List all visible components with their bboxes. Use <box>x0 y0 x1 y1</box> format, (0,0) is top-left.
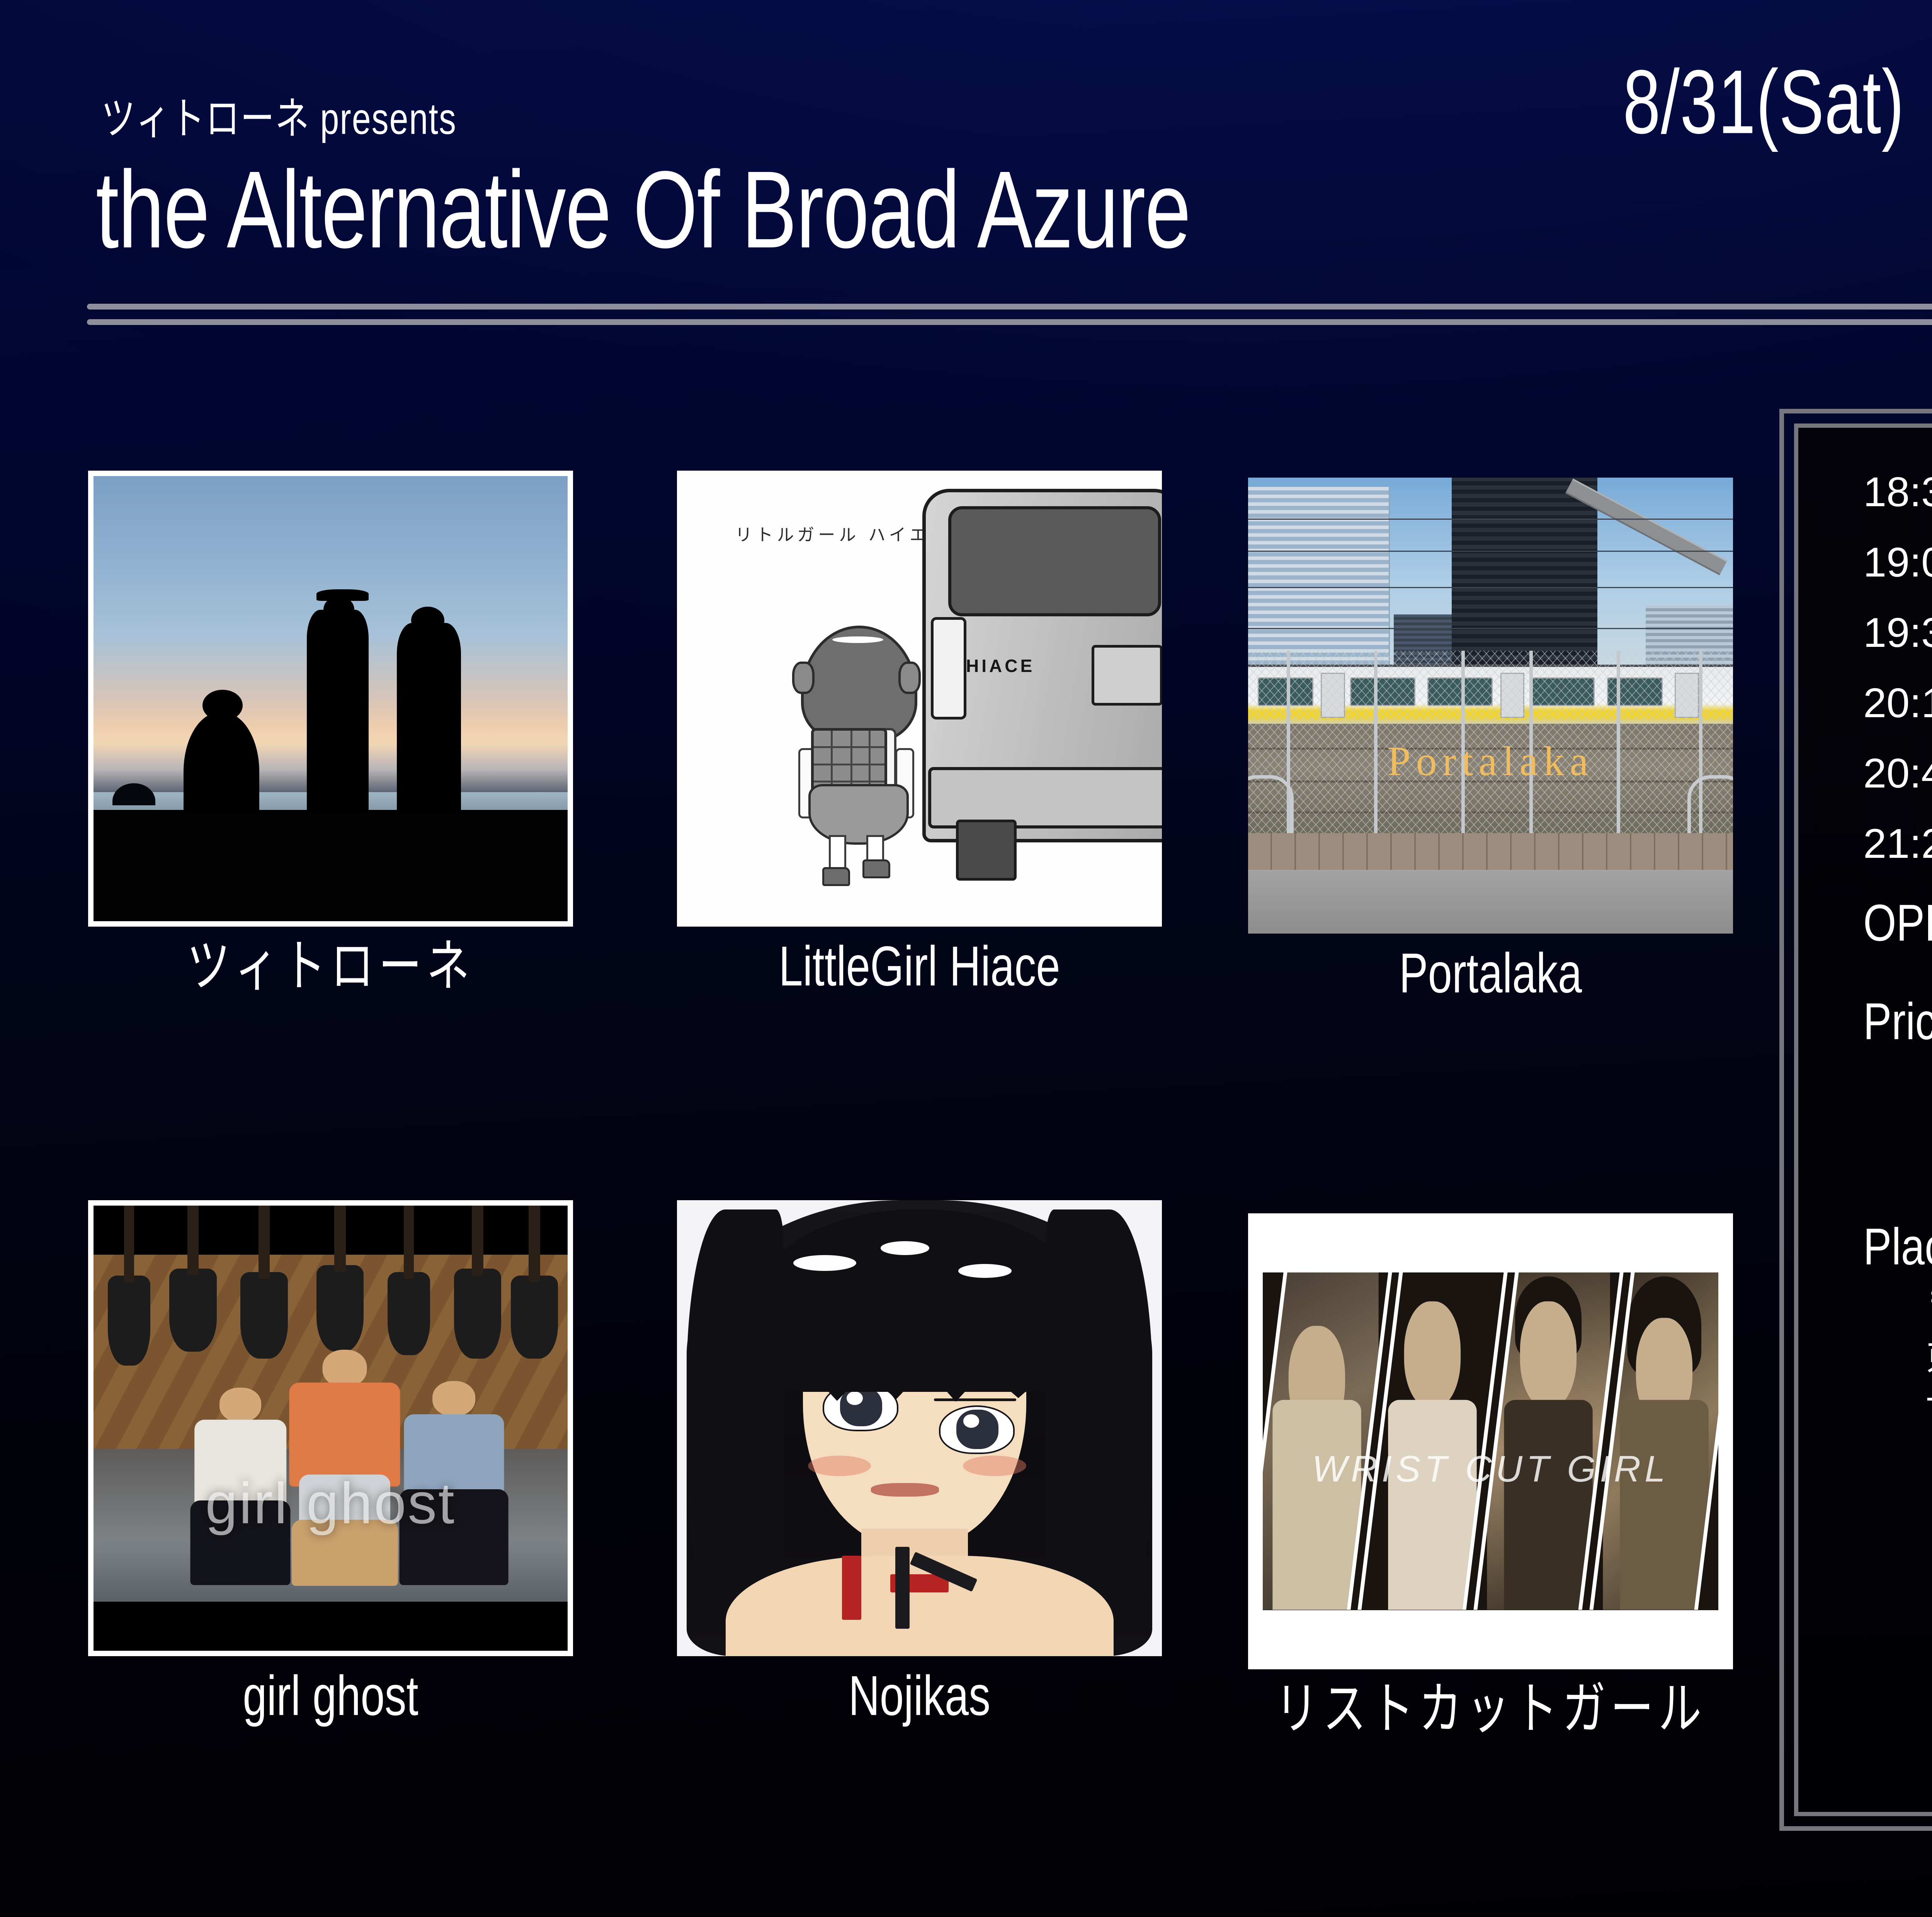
hanging-guitar <box>316 1265 364 1352</box>
place-title: Place: 神楽音 - kagurane <box>1863 1204 1932 1279</box>
person-head-seated <box>202 690 243 721</box>
event-date: 8/31(Sat) <box>1623 50 1905 154</box>
timetable-row: 21:20 girl ghost <box>1863 823 1932 864</box>
hiace-illustration: リトルガール ハイエース HIACE <box>677 471 1162 927</box>
person-silhouette-center <box>307 610 369 815</box>
girl-figure <box>793 626 919 881</box>
person-cap-center <box>316 589 369 601</box>
van-tail-lamp <box>931 617 966 720</box>
building-dark-tower <box>1452 478 1597 669</box>
artwork-wrist-cut-girl: WRIST CUT GIRL <box>1248 1213 1733 1669</box>
van-licence-plate <box>1092 645 1162 706</box>
band-member-center <box>283 1345 406 1581</box>
van-tire <box>956 820 1017 880</box>
sunset-silhouette-image <box>94 476 568 921</box>
artwork-littlegirl-hiace: リトルガール ハイエース HIACE <box>677 471 1162 927</box>
timetable-row: 19:00 リストカットガール <box>1863 541 1932 583</box>
band-photo-image: girl ghost <box>94 1206 568 1651</box>
road-asphalt <box>1248 870 1733 934</box>
girl-hair-bow-right <box>898 662 921 694</box>
place-address: 東京都新宿区神楽坂6-48 <box>1927 1328 1932 1380</box>
artist-caption: Nojikas <box>677 1668 1162 1724</box>
hair-highlight <box>958 1264 1012 1277</box>
artwork-girl-ghost: girl ghost <box>88 1200 573 1656</box>
rock-shape <box>112 783 155 806</box>
artist-tile-littlegirl-hiace: リトルガール ハイエース HIACE <box>677 471 1162 981</box>
photo-area: girl ghost <box>94 1255 568 1602</box>
train-cityscape-image: Portalaka <box>1248 478 1733 934</box>
artist-tile-tsitrone: ツィトローネ <box>88 471 573 981</box>
artist-caption: ツィトローネ <box>88 938 573 995</box>
girl-hair-bow-left <box>792 662 815 694</box>
hanging-guitar <box>108 1276 150 1366</box>
person-head-right <box>411 607 444 634</box>
artist-tile-wrist-cut-girl: WRIST CUT GIRL リストカットガール <box>1248 1213 1733 1724</box>
blush-right <box>963 1456 1026 1476</box>
artist-tile-girl-ghost: girl ghost girl ghost <box>88 1200 573 1711</box>
hair-highlight <box>793 1255 856 1271</box>
girl-hair-highlight <box>832 636 883 643</box>
catenary-wire <box>1248 628 1733 629</box>
title-rule-upper <box>87 304 1932 310</box>
hanging-guitar <box>388 1272 430 1356</box>
mouth <box>871 1483 939 1497</box>
flyer-canvas: ツィトローネ presents the Alternative Of Broad… <box>0 0 1932 1917</box>
timetable-time: 20:10 <box>1863 682 1932 724</box>
catenary-wire <box>1248 587 1733 588</box>
timetable-row: 19:35 Nojikas <box>1863 612 1932 653</box>
person-silhouette-right <box>397 623 461 814</box>
shoulders <box>726 1556 1114 1656</box>
place-block: Place: 神楽音 - kagurane 〒162-0825 東京都新宿区神楽… <box>1863 1204 1932 1424</box>
info-panel-content: 18:30 Portalaka 19:00 リストカットガール 19:35 No… <box>1798 428 1932 1812</box>
place-postal-code: 〒162-0825 <box>1927 1276 1932 1328</box>
timetable-row: 18:30 Portalaka <box>1863 471 1932 513</box>
choker-strap <box>895 1547 910 1629</box>
foreground-ground <box>94 810 568 921</box>
hiace-van: HIACE <box>922 489 1162 842</box>
presents-line: ツィトローネ presents <box>101 83 457 147</box>
open-start-line: OPEN 18:00 / START 18:30 <box>1863 893 1932 953</box>
brick-curb <box>1248 833 1733 869</box>
anime-girl-illustration <box>677 1200 1162 1656</box>
hanging-guitar <box>169 1269 217 1352</box>
artist-caption: リストカットガール <box>1248 1681 1733 1737</box>
artist-caption: girl ghost <box>88 1668 573 1724</box>
girl-skirt <box>808 784 909 845</box>
hanging-guitar <box>240 1272 288 1359</box>
place-building: TOMOS神楽坂 <box>1927 1381 1932 1433</box>
timetable-time: 19:35 <box>1863 612 1932 653</box>
blush-left <box>808 1456 871 1476</box>
timetable-time: 21:20 <box>1863 823 1932 864</box>
hanging-guitar <box>511 1276 558 1359</box>
artwork-portalaka: Portalaka <box>1248 478 1733 934</box>
page-title: the Alternative Of Broad Azure <box>96 155 1190 264</box>
girl-shoe-right <box>862 859 890 879</box>
artist-tile-nojikas: Nojikas <box>677 1200 1162 1711</box>
wrist-cut-girl-overlay-text: WRIST CUT GIRL <box>1263 1448 1719 1490</box>
eye-right <box>939 1405 1015 1454</box>
van-badge-text: HIACE <box>966 655 1035 676</box>
girl-ghost-overlay-text: girl ghost <box>94 1470 568 1537</box>
timetable-time: 19:00 <box>1863 541 1932 583</box>
portalaka-overlay-text: Portalaka <box>1248 738 1733 786</box>
hanging-guitar <box>454 1269 502 1359</box>
artist-caption: LittleGirl Hiace <box>677 938 1162 995</box>
live-photo-collage: WRIST CUT GIRL <box>1248 1213 1733 1669</box>
info-panel: 18:30 Portalaka 19:00 リストカットガール 19:35 No… <box>1779 409 1932 1831</box>
artist-caption: Portalaka <box>1248 945 1733 1002</box>
red-accent <box>842 1556 861 1619</box>
eyelash-right <box>934 1398 1016 1401</box>
hair-highlight <box>881 1241 929 1255</box>
girl-shoe-left <box>822 867 850 886</box>
timetable-time: 18:30 <box>1863 471 1932 513</box>
title-rule-lower <box>87 319 1932 325</box>
van-rear-window <box>948 506 1161 616</box>
building-left <box>1248 487 1390 669</box>
timetable-row: 20:45 ツィトローネ <box>1863 752 1932 794</box>
artwork-nojikas <box>677 1200 1162 1656</box>
timetable: 18:30 Portalaka 19:00 リストカットガール 19:35 No… <box>1863 471 1932 864</box>
person-silhouette-seated <box>184 712 259 815</box>
artist-tile-portalaka: Portalaka Portalaka <box>1248 478 1733 988</box>
catenary-wire <box>1248 519 1733 520</box>
info-panel-inner-border: 18:30 Portalaka 19:00 リストカットガール 19:35 No… <box>1794 424 1932 1816</box>
timetable-row: 20:10 LittleGirl Hiace <box>1863 682 1932 724</box>
timetable-time: 20:45 <box>1863 752 1932 794</box>
catenary-wire <box>1248 551 1733 552</box>
price-label: Price: <box>1863 992 1932 1051</box>
price-block: Price: adv ¥2,500 door ¥3,000 +1drink(¥6… <box>1863 992 1932 1154</box>
artwork-tsitrone <box>88 471 573 927</box>
collage-strip: WRIST CUT GIRL <box>1263 1272 1719 1610</box>
